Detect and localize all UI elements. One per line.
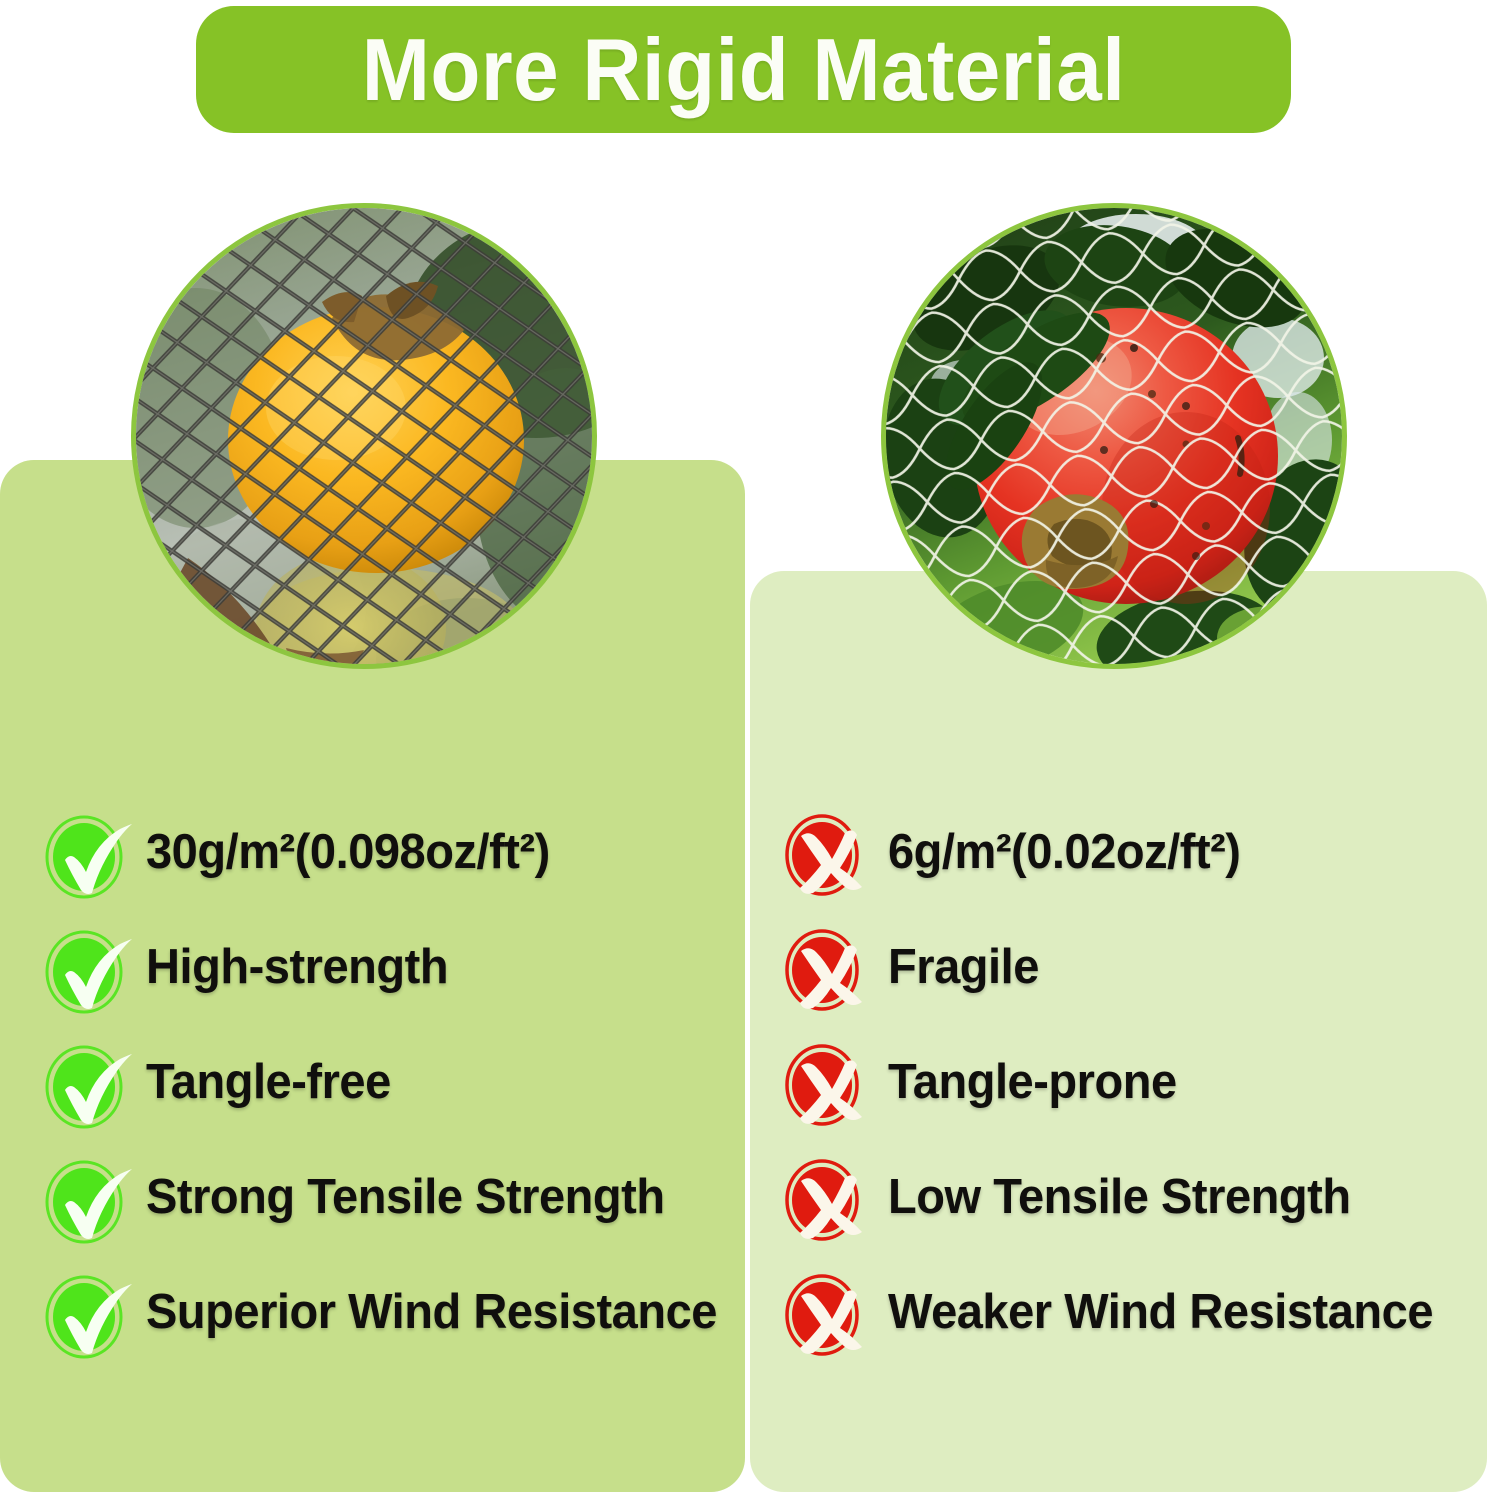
pomegranate-photo-graphic <box>886 208 1347 669</box>
list-item-label: Weaker Wind Resistance <box>888 1288 1433 1337</box>
photo-left-image <box>136 208 592 664</box>
list-item: Weaker Wind Resistance <box>784 1255 1484 1370</box>
cross-icon <box>784 919 876 1017</box>
list-item: Low Tensile Strength <box>784 1140 1484 1255</box>
list-item: 30g/m²(0.098oz/ft²) <box>44 795 744 910</box>
list-item: Superior Wind Resistance <box>44 1255 744 1370</box>
list-item-label: Fragile <box>888 943 1039 992</box>
list-item-label: Strong Tensile Strength <box>146 1173 665 1222</box>
cross-icon <box>784 804 876 902</box>
check-icon <box>44 1149 136 1247</box>
persimmon-under-heavy-duty-net-photo <box>131 203 597 669</box>
list-item: Tangle-prone <box>784 1025 1484 1140</box>
list-item: Strong Tensile Strength <box>44 1140 744 1255</box>
other-product-feature-list: 6g/m²(0.02oz/ft²) Fragile Tangle-prone <box>784 795 1484 1370</box>
list-item-label: 30g/m²(0.098oz/ft²) <box>146 828 550 877</box>
title-banner: More Rigid Material <box>196 6 1291 133</box>
list-item: Tangle-free <box>44 1025 744 1140</box>
check-icon <box>44 1264 136 1362</box>
check-icon <box>44 1034 136 1132</box>
cross-icon <box>784 1034 876 1132</box>
cross-icon <box>784 1149 876 1247</box>
photo-right-image <box>886 208 1342 664</box>
pomegranate-under-thin-net-photo <box>881 203 1347 669</box>
list-item-label: Superior Wind Resistance <box>146 1288 717 1337</box>
check-icon <box>44 919 136 1017</box>
list-item: 6g/m²(0.02oz/ft²) <box>784 795 1484 910</box>
list-item: High-strength <box>44 910 744 1025</box>
cross-icon <box>784 1264 876 1362</box>
list-item-label: Low Tensile Strength <box>888 1173 1351 1222</box>
list-item: Fragile <box>784 910 1484 1025</box>
check-icon <box>44 804 136 902</box>
list-item-label: 6g/m²(0.02oz/ft²) <box>888 828 1241 877</box>
list-item-label: Tangle-free <box>146 1058 391 1107</box>
list-item-label: High-strength <box>146 943 448 992</box>
list-item-label: Tangle-prone <box>888 1058 1177 1107</box>
persimmon-photo-graphic <box>136 208 597 669</box>
our-product-feature-list: 30g/m²(0.098oz/ft²) High-strength Tangle… <box>44 795 744 1370</box>
page-title: More Rigid Material <box>362 26 1126 114</box>
